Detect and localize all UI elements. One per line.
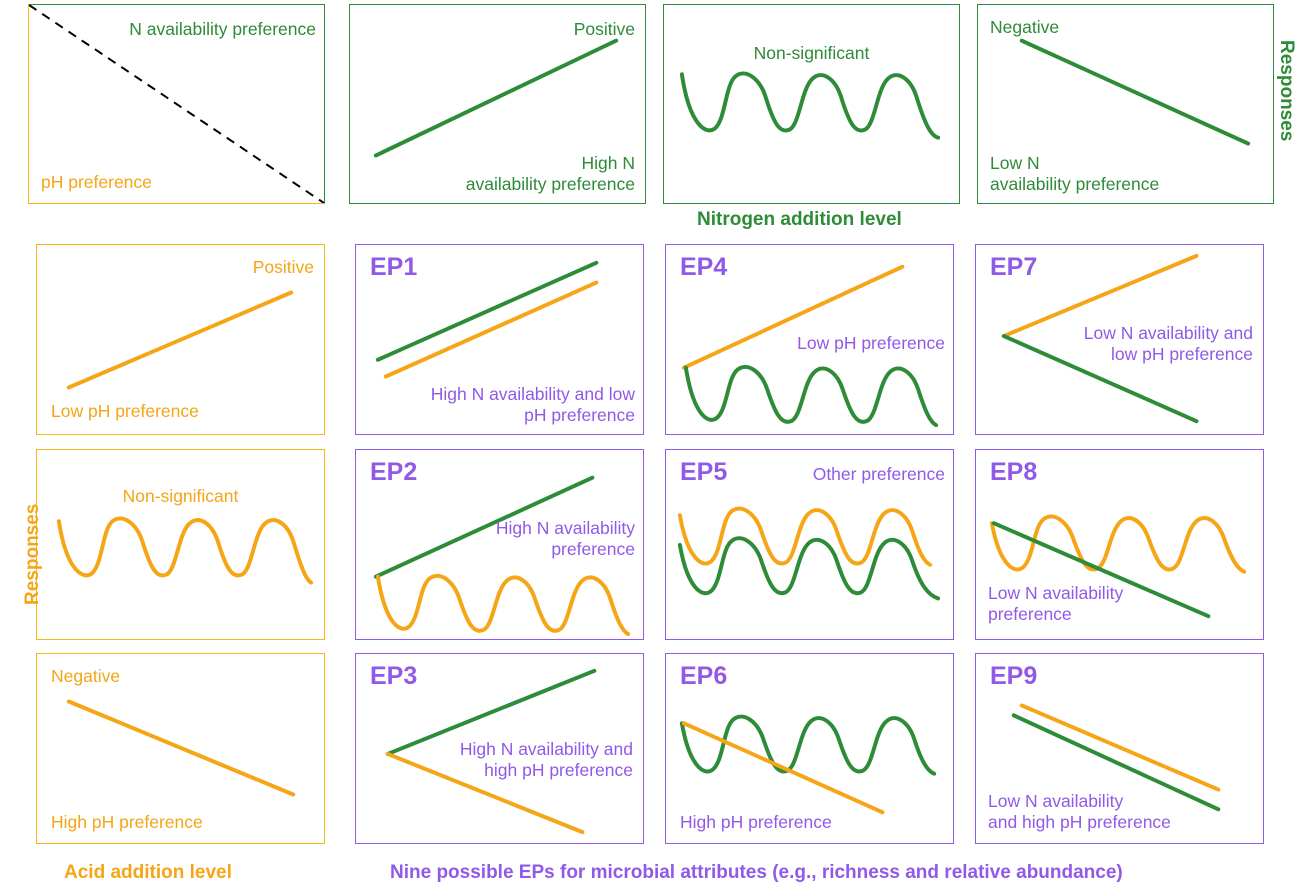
ep8-tag: EP8 bbox=[990, 458, 1037, 487]
ep9-panel: EP9 Low N availability and high pH prefe… bbox=[975, 653, 1264, 844]
ep2-note: High N availability preference bbox=[496, 518, 635, 560]
nitrogen-positive-panel: Positive High N availability preference bbox=[349, 4, 646, 204]
ep3-note: High N availability and high pH preferen… bbox=[460, 739, 633, 781]
ep3-tag: EP3 bbox=[370, 662, 417, 691]
nitrogen-negative-title: Negative bbox=[990, 17, 1059, 38]
nitrogen-negative-panel: Negative Low N availability preference bbox=[977, 4, 1274, 204]
ep8-panel: EP8 Low N availability preference bbox=[975, 449, 1264, 640]
legend-corner-panel: N availability preference pH preference bbox=[28, 4, 325, 204]
ep7-panel: EP7 Low N availability and low pH prefer… bbox=[975, 244, 1264, 435]
responses-axis-caption-left: Responses bbox=[22, 504, 44, 605]
ph-negative-panel: Negative High pH preference bbox=[36, 653, 325, 844]
ep1-note: High N availability and low pH preferenc… bbox=[431, 384, 635, 426]
nitrogen-nonsignificant-panel: Non-significant bbox=[663, 4, 960, 204]
responses-axis-caption-right: Responses bbox=[1275, 40, 1297, 141]
ep9-tag: EP9 bbox=[990, 662, 1037, 691]
nitrogen-positive-title: Positive bbox=[574, 19, 635, 40]
ep5-tag: EP5 bbox=[680, 458, 727, 487]
ep2-tag: EP2 bbox=[370, 458, 417, 487]
ep3-panel: EP3 High N availability and high pH pref… bbox=[355, 653, 644, 844]
acid-axis-caption: Acid addition level bbox=[64, 862, 232, 884]
nitrogen-nonsignificant-title: Non-significant bbox=[754, 43, 870, 64]
ep9-note: Low N availability and high pH preferenc… bbox=[988, 791, 1171, 833]
ph-positive-panel: Positive Low pH preference bbox=[36, 244, 325, 435]
ep5-panel: EP5 Other preference bbox=[665, 449, 954, 640]
ph-preference-label: pH preference bbox=[41, 172, 152, 193]
ep4-note: Low pH preference bbox=[797, 333, 945, 354]
nitrogen-axis-caption: Nitrogen addition level bbox=[697, 209, 902, 231]
ep1-panel: EP1 High N availability and low pH prefe… bbox=[355, 244, 644, 435]
ph-negative-note: High pH preference bbox=[51, 812, 203, 833]
n-availability-preference-label: N availability preference bbox=[129, 19, 316, 40]
ep1-tag: EP1 bbox=[370, 253, 417, 282]
ep5-note: Other preference bbox=[813, 464, 945, 485]
ep4-tag: EP4 bbox=[680, 253, 727, 282]
ph-negative-title: Negative bbox=[51, 666, 120, 687]
nitrogen-negative-note: Low N availability preference bbox=[990, 153, 1159, 195]
ep7-note: Low N availability and low pH preference bbox=[1084, 323, 1253, 365]
ph-positive-note: Low pH preference bbox=[51, 401, 199, 422]
ph-nonsignificant-panel: Non-significant bbox=[36, 449, 325, 640]
ep6-tag: EP6 bbox=[680, 662, 727, 691]
nitrogen-positive-note: High N availability preference bbox=[466, 153, 635, 195]
ep8-note: Low N availability preference bbox=[988, 583, 1123, 625]
main-caption: Nine possible EPs for microbial attribut… bbox=[390, 862, 1123, 884]
orange-wave-icon bbox=[37, 450, 324, 639]
ep6-panel: EP6 High pH preference bbox=[665, 653, 954, 844]
green-wave-icon bbox=[664, 5, 959, 203]
ep4-panel: EP4 Low pH preference bbox=[665, 244, 954, 435]
ph-positive-title: Positive bbox=[253, 257, 314, 278]
ep6-note: High pH preference bbox=[680, 812, 832, 833]
ep2-panel: EP2 High N availability preference bbox=[355, 449, 644, 640]
ep7-tag: EP7 bbox=[990, 253, 1037, 282]
ph-nonsignificant-title: Non-significant bbox=[123, 486, 239, 507]
